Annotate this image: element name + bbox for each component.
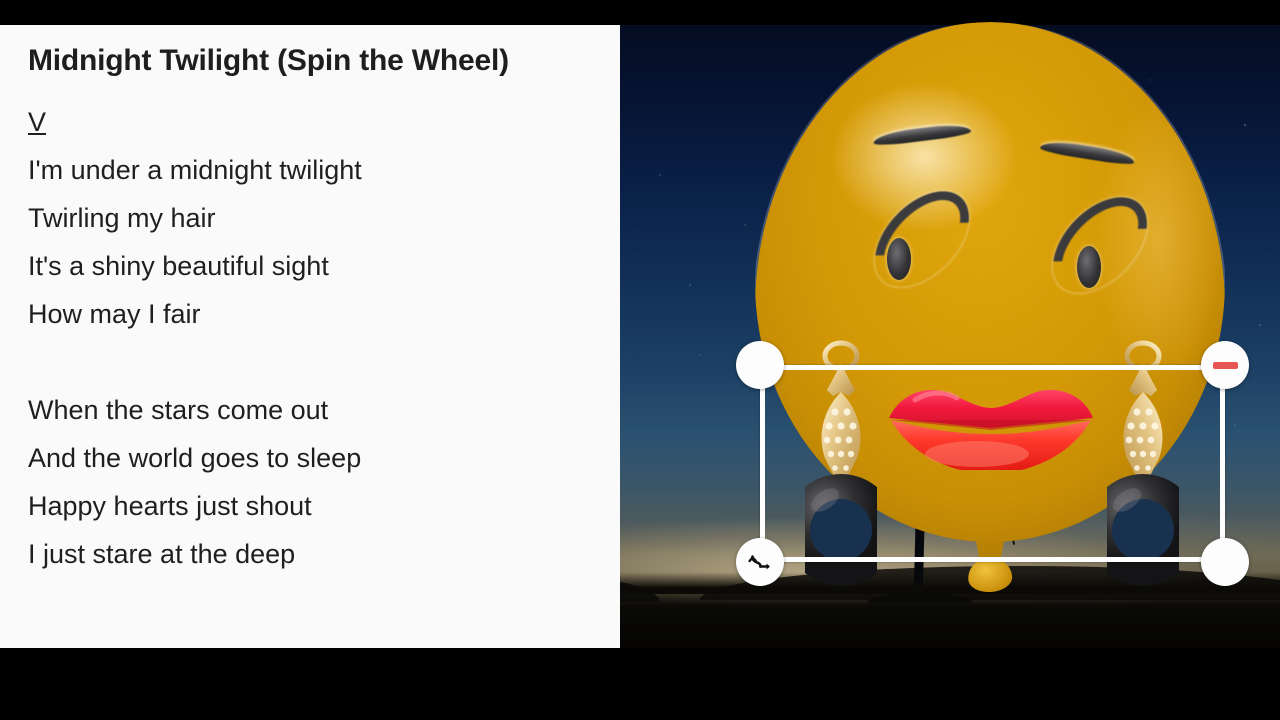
balloon-knot [967, 557, 1013, 594]
lyric-line: It's a shiny beautiful sight [28, 242, 620, 290]
lyric-line: Happy hearts just shout [28, 482, 620, 530]
rotate-icon [745, 547, 775, 577]
pupil-right [1077, 246, 1101, 288]
resize-handle-top-left[interactable] [736, 341, 784, 389]
delete-sticker-button[interactable] [1201, 341, 1249, 389]
lyric-line-blank [28, 338, 620, 386]
resize-handle-bottom-right[interactable] [1201, 538, 1249, 586]
lyric-line: I just stare at the deep [28, 530, 620, 578]
delete-minus-icon [1213, 362, 1238, 369]
lyric-line: How may I fair [28, 290, 620, 338]
screen-root: Midnight Twilight (Spin the Wheel) V I'm… [0, 0, 1280, 720]
lyrics-panel[interactable]: Midnight Twilight (Spin the Wheel) V I'm… [0, 25, 620, 648]
pupil-left [887, 238, 911, 280]
lyric-line: And the world goes to sleep [28, 434, 620, 482]
lyric-line: When the stars come out [28, 386, 620, 434]
sticker-selection-frame[interactable] [760, 365, 1225, 562]
lyric-line: I'm under a midnight twilight [28, 146, 620, 194]
lyric-line: Twirling my hair [28, 194, 620, 242]
eye-right-icon [1043, 210, 1139, 272]
eye-left-icon [865, 204, 961, 266]
page-title: Midnight Twilight (Spin the Wheel) [28, 43, 620, 79]
verse-marker: V [28, 109, 46, 136]
rotate-sticker-handle[interactable] [736, 538, 784, 586]
